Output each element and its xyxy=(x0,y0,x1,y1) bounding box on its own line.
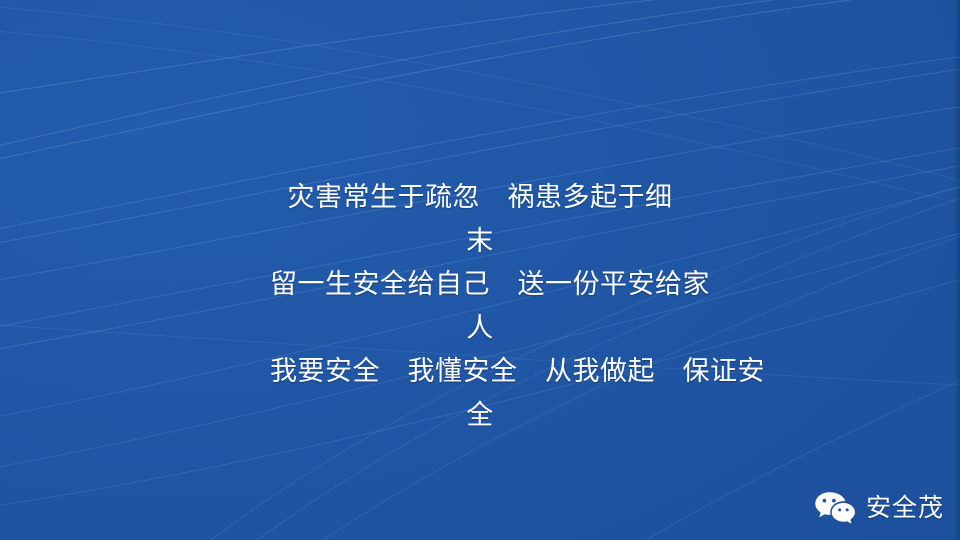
slogan-line-1: 灾害常生于疏忽 祸患多起于细 xyxy=(270,176,690,220)
wechat-watermark: 安全茂 xyxy=(813,490,944,526)
watermark-label: 安全茂 xyxy=(866,496,944,521)
wechat-logo-icon xyxy=(813,490,857,526)
slogan-line-2: 末 xyxy=(270,220,690,264)
slogan-line-4: 人 xyxy=(270,307,690,351)
slogan-line-6: 全 xyxy=(270,394,690,438)
slide-canvas: 灾害常生于疏忽 祸患多起于细 末 留一生安全给自己 送一份平安给家 人 我要安全… xyxy=(0,0,960,540)
slogan-line-3: 留一生安全给自己 送一份平安给家 xyxy=(270,263,690,307)
slogan-line-5: 我要安全 我懂安全 从我做起 保证安 xyxy=(270,350,690,394)
slogan-text-block: 灾害常生于疏忽 祸患多起于细 末 留一生安全给自己 送一份平安给家 人 我要安全… xyxy=(270,176,690,437)
